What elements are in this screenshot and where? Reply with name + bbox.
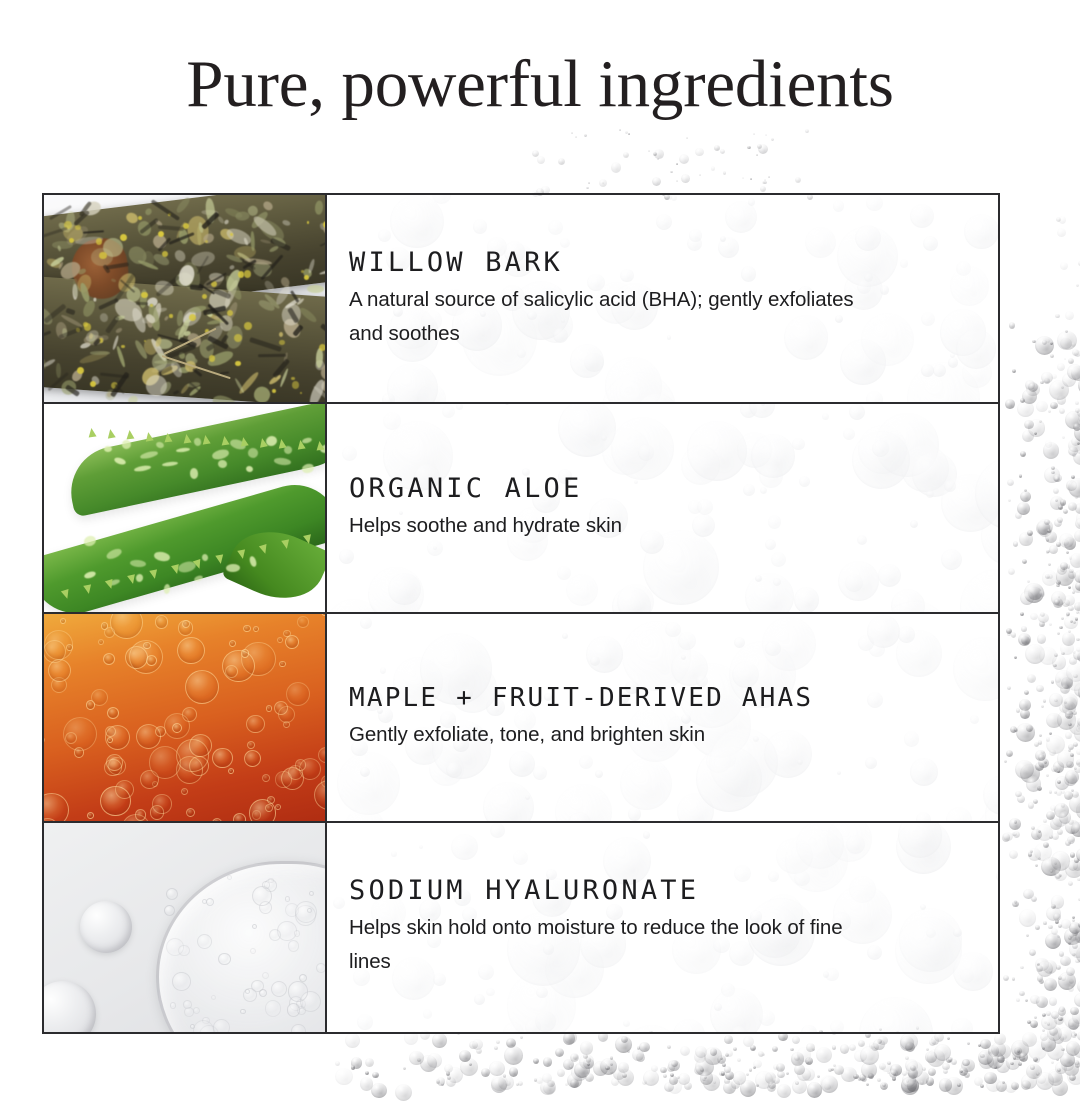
ingredient-description: Helps soothe and hydrate skin xyxy=(349,509,869,543)
ingredient-description: A natural source of salicylic acid (BHA)… xyxy=(349,283,869,351)
ingredient-name: SODIUM HYALURONATE xyxy=(349,875,978,906)
ingredient-description: Helps skin hold onto moisture to reduce … xyxy=(349,911,869,979)
willow-bark-photo xyxy=(44,195,325,402)
ingredient-name: WILLOW BARK xyxy=(349,247,978,278)
sodium-hyaluronate-photo xyxy=(44,823,325,1032)
table-row: ORGANIC ALOE Helps soothe and hydrate sk… xyxy=(44,404,998,613)
ingredient-name: ORGANIC ALOE xyxy=(349,473,978,504)
ingredient-image-cell xyxy=(44,614,327,821)
table-row: MAPLE + FRUIT-DERIVED AHAS Gently exfoli… xyxy=(44,614,998,823)
ingredient-text-cell: SODIUM HYALURONATE Helps skin hold onto … xyxy=(327,823,998,1032)
ingredient-name: MAPLE + FRUIT-DERIVED AHAS xyxy=(349,683,978,713)
table-row: SODIUM HYALURONATE Helps skin hold onto … xyxy=(44,823,998,1032)
ingredient-text-cell: MAPLE + FRUIT-DERIVED AHAS Gently exfoli… xyxy=(327,614,998,821)
organic-aloe-photo xyxy=(44,404,325,611)
ingredient-text-cell: WILLOW BARK A natural source of salicyli… xyxy=(327,195,998,402)
table-row: WILLOW BARK A natural source of salicyli… xyxy=(44,195,998,404)
ingredient-text-cell: ORGANIC ALOE Helps soothe and hydrate sk… xyxy=(327,404,998,611)
ingredients-table: WILLOW BARK A natural source of salicyli… xyxy=(42,193,1000,1034)
ingredient-image-cell xyxy=(44,823,327,1032)
ingredient-description: Gently exfoliate, tone, and brighten ski… xyxy=(349,718,869,752)
ingredient-image-cell xyxy=(44,404,327,611)
page-title: Pure, powerful ingredients xyxy=(0,48,1080,120)
ingredient-image-cell xyxy=(44,195,327,402)
maple-aha-photo xyxy=(44,614,325,821)
